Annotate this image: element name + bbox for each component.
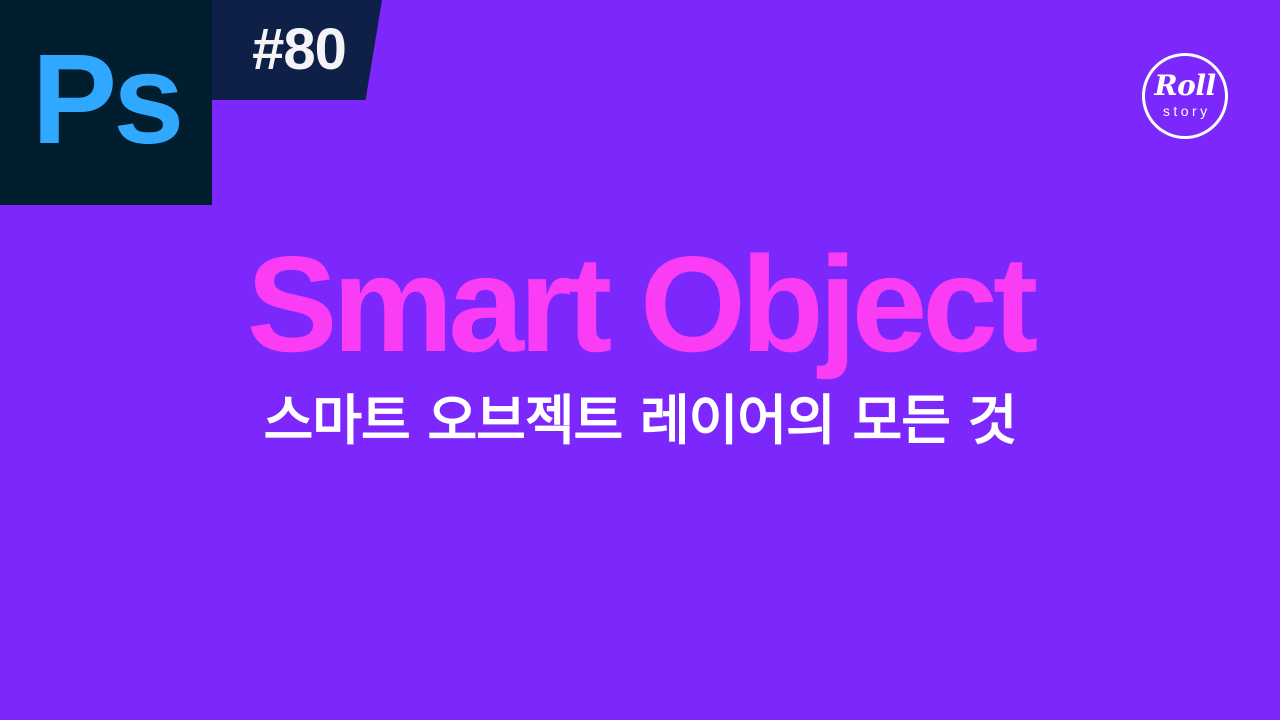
brand-logo: Roll story [1142, 53, 1228, 139]
brand-name-secondary: story [1142, 104, 1228, 118]
photoshop-badge: Ps [0, 0, 212, 205]
thumbnail-canvas: Ps #80 Roll story Smart Object 스마트 오브젝트 … [0, 0, 1280, 720]
photoshop-ps-icon: Ps [0, 0, 212, 205]
brand-name-primary: Roll [1142, 72, 1228, 100]
page-title: Smart Object [0, 236, 1280, 372]
title-block: Smart Object 스마트 오브젝트 레이어의 모든 것 [0, 236, 1280, 448]
page-subtitle: 스마트 오브젝트 레이어의 모든 것 [0, 372, 1280, 448]
episode-banner: #80 [200, 0, 382, 100]
episode-number-label: #80 [200, 0, 368, 100]
